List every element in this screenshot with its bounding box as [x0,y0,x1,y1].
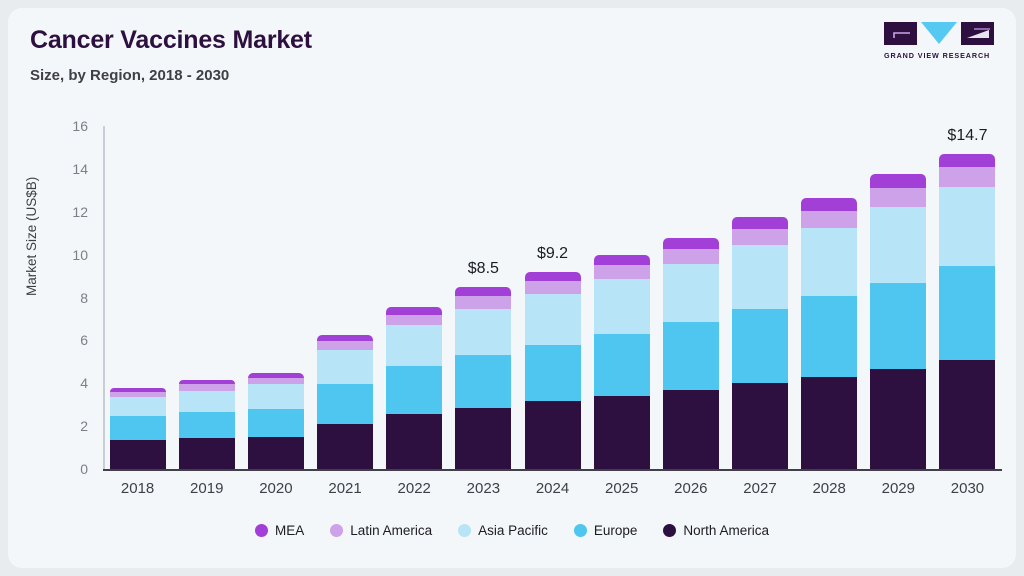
bar-segment-asia-pacific[interactable] [386,325,442,366]
bar-stack [317,335,373,469]
bar-segment-latin-america[interactable] [594,265,650,279]
grand-view-research-logo: GRAND VIEW RESEARCH [884,22,994,60]
bar-stack [525,272,581,469]
x-axis-tick-2025: 2025 [587,480,656,497]
bar-segment-asia-pacific[interactable] [525,294,581,344]
bar-segment-mea[interactable] [939,154,995,167]
bar-group-2021[interactable] [310,126,379,469]
bar-segment-latin-america[interactable] [525,281,581,294]
bar-group-2025[interactable] [587,126,656,469]
y-axis-title: Market Size (US$B) [24,177,39,296]
x-axis-tick-2027: 2027 [725,480,794,497]
bar-segment-asia-pacific[interactable] [110,397,166,416]
bar-segment-north-america[interactable] [317,424,373,469]
bar-segment-mea[interactable] [801,198,857,211]
x-axis-line [103,469,1002,471]
legend-swatch-icon [663,524,676,537]
x-axis-tick-2018: 2018 [103,480,172,497]
bar-segment-latin-america[interactable] [870,188,926,207]
legend-swatch-icon [330,524,343,537]
bar-segment-europe[interactable] [110,416,166,440]
bar-segment-asia-pacific[interactable] [663,264,719,322]
bar-segment-mea[interactable] [663,238,719,250]
y-axis-tick-labels: 0246810121416 [48,126,88,469]
y-axis-tick-0: 0 [48,461,88,477]
y-axis-tick-4: 4 [48,375,88,391]
bar-segment-asia-pacific[interactable] [801,228,857,297]
y-axis-tick-16: 16 [48,118,88,134]
bar-segment-asia-pacific[interactable] [248,384,304,409]
bar-stack [179,380,235,469]
bar-stack [732,217,788,469]
bar-segment-asia-pacific[interactable] [870,207,926,282]
bar-segment-mea[interactable] [386,307,442,315]
bar-value-label-2030: $14.7 [933,127,1002,145]
bar-segment-europe[interactable] [801,296,857,376]
legend-item-north-america[interactable]: North America [663,523,769,538]
x-axis-tick-2019: 2019 [172,480,241,497]
legend-swatch-icon [255,524,268,537]
legend-item-europe[interactable]: Europe [574,523,638,538]
bar-stack [801,198,857,469]
logo-left-block-icon [884,22,917,45]
bar-segment-latin-america[interactable] [663,249,719,264]
bar-segment-asia-pacific[interactable] [732,245,788,309]
bar-group-2022[interactable] [380,126,449,469]
bar-segment-latin-america[interactable] [801,211,857,228]
y-axis-tick-8: 8 [48,290,88,306]
bar-stack [870,174,926,469]
bar-value-label-2023: $8.5 [449,260,518,278]
x-axis-tick-2029: 2029 [864,480,933,497]
legend-label: North America [683,523,769,538]
bar-segment-europe[interactable] [248,409,304,437]
bar-segment-latin-america[interactable] [317,341,373,350]
y-axis-tick-12: 12 [48,204,88,220]
bar-segment-north-america[interactable] [870,369,926,469]
bar-segment-mea[interactable] [732,217,788,229]
legend-swatch-icon [458,524,471,537]
bar-stack [663,238,719,469]
legend-item-asia-pacific[interactable]: Asia Pacific [458,523,548,538]
page-title: Cancer Vaccines Market [30,24,312,56]
bar-segment-mea[interactable] [525,272,581,282]
chart-header: Cancer Vaccines Market Size, by Region, … [30,24,312,86]
logo-right-block-icon [961,22,994,45]
chart-card: Cancer Vaccines Market Size, by Region, … [8,8,1016,568]
bar-group-2018[interactable] [103,126,172,469]
bar-segment-europe[interactable] [870,283,926,370]
bar-segment-asia-pacific[interactable] [594,279,650,334]
legend-label: Latin America [350,523,432,538]
bar-segment-latin-america[interactable] [732,229,788,245]
logo-text: GRAND VIEW RESEARCH [884,51,994,60]
bar-group-2029[interactable] [864,126,933,469]
bar-segment-north-america[interactable] [663,390,719,469]
bar-group-2027[interactable] [725,126,794,469]
bar-segment-europe[interactable] [179,412,235,438]
bar-group-2019[interactable] [172,126,241,469]
bar-group-2020[interactable] [241,126,310,469]
bar-segment-europe[interactable] [594,334,650,396]
bar-segment-asia-pacific[interactable] [455,309,511,355]
bar-group-2024[interactable]: $9.2 [518,126,587,469]
bar-segment-north-america[interactable] [248,437,304,469]
bar-segment-north-america[interactable] [179,438,235,469]
bar-group-2028[interactable] [795,126,864,469]
bar-segment-north-america[interactable] [939,360,995,469]
bar-segment-europe[interactable] [455,355,511,408]
bar-segment-north-america[interactable] [455,408,511,469]
bar-stack [248,373,304,469]
x-axis-tick-2023: 2023 [449,480,518,497]
y-axis-tick-10: 10 [48,247,88,263]
bar-segment-mea[interactable] [594,255,650,266]
chart-legend: MEALatin AmericaAsia PacificEuropeNorth … [8,523,1016,538]
bar-segment-asia-pacific[interactable] [317,350,373,384]
y-axis-tick-14: 14 [48,161,88,177]
legend-label: Europe [594,523,638,538]
legend-label: Asia Pacific [478,523,548,538]
bar-group-2030[interactable]: $14.7 [933,126,1002,469]
y-axis-tick-2: 2 [48,418,88,434]
legend-item-latin-america[interactable]: Latin America [330,523,432,538]
bar-segment-latin-america[interactable] [939,167,995,187]
x-axis-tick-2026: 2026 [656,480,725,497]
bar-segment-europe[interactable] [525,345,581,402]
y-axis-tick-6: 6 [48,332,88,348]
bar-segment-asia-pacific[interactable] [939,187,995,266]
x-axis-tick-labels: 2018201920202021202220232024202520262027… [103,480,1002,497]
bar-segment-europe[interactable] [732,309,788,383]
legend-item-mea[interactable]: MEA [255,523,304,538]
bar-stack [110,388,166,469]
x-axis-tick-2028: 2028 [795,480,864,497]
bar-segment-europe[interactable] [663,322,719,390]
bar-stack [939,154,995,469]
bar-segment-asia-pacific[interactable] [179,391,235,412]
x-axis-tick-2021: 2021 [310,480,379,497]
bar-segment-mea[interactable] [870,174,926,188]
bar-stack [386,307,442,469]
bar-segment-north-america[interactable] [732,383,788,469]
bar-segment-europe[interactable] [317,384,373,424]
legend-swatch-icon [574,524,587,537]
bar-group-2026[interactable] [656,126,725,469]
bar-segment-north-america[interactable] [110,440,166,469]
x-axis-tick-2022: 2022 [380,480,449,497]
x-axis-tick-2024: 2024 [518,480,587,497]
bar-segment-north-america[interactable] [801,377,857,469]
bar-segment-mea[interactable] [455,287,511,297]
bar-segment-europe[interactable] [939,266,995,359]
bar-stack [594,255,650,469]
bar-segment-north-america[interactable] [525,401,581,469]
logo-marks [884,22,994,46]
bar-segment-north-america[interactable] [386,414,442,469]
x-axis-tick-2020: 2020 [241,480,310,497]
bar-group-2023[interactable]: $8.5 [449,126,518,469]
bar-segment-latin-america[interactable] [386,315,442,326]
bar-segment-north-america[interactable] [594,396,650,469]
bar-stack [455,287,511,469]
x-axis-tick-2030: 2030 [933,480,1002,497]
chart-subtitle: Size, by Region, 2018 - 2030 [30,66,312,86]
bar-value-label-2024: $9.2 [518,245,587,263]
bar-segment-europe[interactable] [386,366,442,414]
legend-label: MEA [275,523,304,538]
bar-series-container: $8.5$9.2$14.7 [103,126,1002,469]
bar-segment-latin-america[interactable] [455,296,511,309]
logo-triangle-icon [921,22,957,44]
